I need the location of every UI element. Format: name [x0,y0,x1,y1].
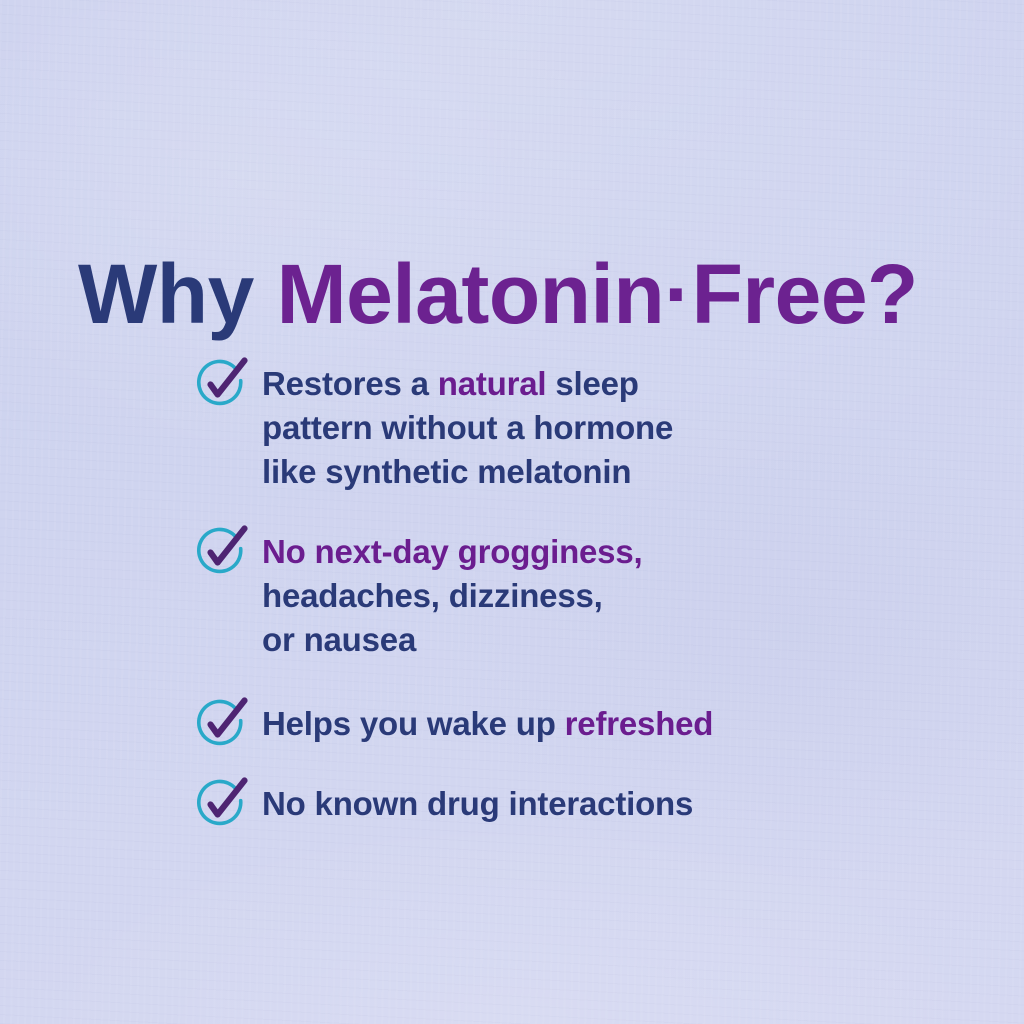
page-title-part-purple: Melatonin·Free? [277,247,918,341]
list-item-label: Helps you wake up refreshed [262,702,990,746]
body-text: No known drug interactions [262,785,693,822]
list-item-line: Helps you wake up refreshed [262,702,990,746]
check-circle-icon [190,353,252,415]
list-item-line: No next-day grogginess, [262,530,990,574]
emphasis-text: refreshed [565,705,714,742]
list-item-line: like synthetic melatonin [262,450,990,494]
check-circle-icon [190,773,252,835]
emphasis-text: natural [438,365,547,402]
list-item-line: or nausea [262,618,990,662]
check-circle-icon [190,693,252,755]
list-item-line: Restores a natural sleep [262,362,990,406]
body-text: Helps you wake up [262,705,565,742]
page-title: Why Melatonin·Free? [78,252,918,336]
list-item: No next-day grogginess,headaches, dizzin… [190,530,990,662]
list-item-label: Restores a natural sleeppattern without … [262,362,990,494]
page-title-part-navy: Why [78,247,277,341]
list-item: No known drug interactions [190,782,990,826]
check-circle-icon [190,521,252,583]
emphasis-text: No next-day grogginess, [262,533,642,570]
benefits-list: Restores a natural sleeppattern without … [190,362,990,826]
list-item-line: pattern without a hormone [262,406,990,450]
list-item-line: headaches, dizziness, [262,574,990,618]
list-item-label: No known drug interactions [262,782,990,826]
promo-poster: Why Melatonin·Free? Restores a natural s… [0,0,1024,1024]
list-item-label: No next-day grogginess,headaches, dizzin… [262,530,990,662]
body-text: headaches, dizziness, [262,577,603,614]
list-item: Helps you wake up refreshed [190,702,990,746]
body-text: like synthetic melatonin [262,453,631,490]
body-text: sleep [546,365,638,402]
body-text: Restores a [262,365,438,402]
body-text: pattern without a hormone [262,409,673,446]
list-item: Restores a natural sleeppattern without … [190,362,990,494]
list-item-line: No known drug interactions [262,782,990,826]
body-text: or nausea [262,621,416,658]
